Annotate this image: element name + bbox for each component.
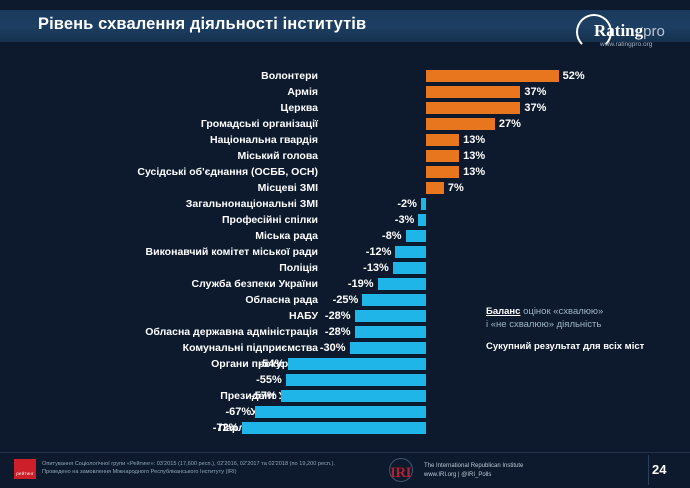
chart-row: Уряд України-67% <box>0 404 690 420</box>
chart-row: Поліція-13% <box>0 260 690 276</box>
bar-value-label: 13% <box>463 148 485 164</box>
chart-row: Професійні спілки-3% <box>0 212 690 228</box>
category-label: Служба безпеки України <box>0 276 318 292</box>
logo-url: www.ratingpro.org <box>600 41 652 48</box>
bar-value-label: 52% <box>563 68 585 84</box>
bar-positive <box>426 86 520 98</box>
summary-note: Сукупний результат для всіх міст <box>486 341 686 352</box>
bar-negative <box>355 310 426 322</box>
balance-note-bold: Баланс <box>486 306 520 317</box>
bar-positive <box>426 70 559 82</box>
logo-wordmark: Ratingpro <box>594 21 665 41</box>
chart-row: Президент України-57% <box>0 388 690 404</box>
bar-negative <box>362 294 426 306</box>
bar-value-label: -28% <box>291 324 351 340</box>
chart-row: Громадські організації27% <box>0 116 690 132</box>
footer-source-note: Опитування Соціологічної групи «Рейтинг»… <box>42 461 392 476</box>
header-top-strip <box>0 0 690 10</box>
bar-value-label: -72% <box>178 420 238 436</box>
bar-value-label: -12% <box>331 244 391 260</box>
chart-row: Національна гвардія13% <box>0 132 690 148</box>
chart-row: Загальнонаціональні ЗМІ-2% <box>0 196 690 212</box>
page-number: 24 <box>652 462 686 477</box>
bar-value-label: -54% <box>224 356 284 372</box>
bar-positive <box>426 134 459 146</box>
category-label: Загальнонаціональні ЗМІ <box>0 196 318 212</box>
page-title: Рівень схвалення діяльності інститутів <box>38 15 366 34</box>
bar-negative <box>395 246 426 258</box>
category-label: Громадські організації <box>0 116 318 132</box>
bar-positive <box>426 150 459 162</box>
chart-row: Місцеві ЗМІ7% <box>0 180 690 196</box>
bar-negative <box>378 278 426 290</box>
bar-value-label: 37% <box>524 100 546 116</box>
bar-chart: Волонтери52%Армія37%Церква37%Громадські … <box>0 62 690 444</box>
bar-positive <box>426 102 520 114</box>
bar-value-label: -30% <box>286 340 346 356</box>
bar-negative <box>350 342 427 354</box>
footer-note-line2: Проведено на замовлення Міжнародного Рес… <box>42 469 392 477</box>
chart-row: Органи прокуратури-54% <box>0 356 690 372</box>
bar-positive <box>426 182 444 194</box>
bar-value-label: -25% <box>298 292 358 308</box>
bar-value-label: -2% <box>357 196 417 212</box>
category-label: Виконавчий комітет міської ради <box>0 244 318 260</box>
chart-row: Сусідські об'єднання (ОСББ, ОСН)13% <box>0 164 690 180</box>
rating-logo-mark: рейтинг <box>14 459 36 479</box>
bar-value-label: -28% <box>291 308 351 324</box>
category-label: Міська рада <box>0 228 318 244</box>
chart-row: Суди-55% <box>0 372 690 388</box>
bar-value-label: -8% <box>342 228 402 244</box>
balance-note: Баланс оцінок «схвалюю» і «не схвалюю» д… <box>486 305 686 331</box>
bar-negative <box>355 326 426 338</box>
slide-root: Рівень схвалення діяльності інститутів R… <box>0 0 690 488</box>
logo-suffix: pro <box>643 23 665 40</box>
bar-value-label: -57% <box>217 388 277 404</box>
page-number-divider <box>648 455 649 485</box>
category-label: Церква <box>0 100 318 116</box>
category-label: Армія <box>0 84 318 100</box>
chart-row: Церква37% <box>0 100 690 116</box>
bar-negative <box>421 198 426 210</box>
balance-note-rest: оцінок «схвалюю» <box>520 306 603 317</box>
category-label: НАБУ <box>0 308 318 324</box>
chart-row: Міський голова13% <box>0 148 690 164</box>
bar-value-label: -67% <box>191 404 251 420</box>
bar-value-label: 13% <box>463 132 485 148</box>
iri-credit: The International Republican Institute w… <box>424 462 523 479</box>
bar-positive <box>426 118 495 130</box>
category-label: Національна гвардія <box>0 132 318 148</box>
bar-value-label: -55% <box>222 372 282 388</box>
bar-negative <box>286 374 426 386</box>
bar-value-label: 37% <box>524 84 546 100</box>
bar-negative <box>242 422 426 434</box>
bar-value-label: 27% <box>499 116 521 132</box>
footer-note-line1: Опитування Соціологічної групи «Рейтинг»… <box>42 461 392 469</box>
bar-negative <box>281 390 426 402</box>
category-label: Обласна державна адміністрація <box>0 324 318 340</box>
category-label: Обласна рада <box>0 292 318 308</box>
iri-logo-icon: IRI <box>388 458 422 482</box>
chart-row: Армія37% <box>0 84 690 100</box>
chart-row: Виконавчий комітет міської ради-12% <box>0 244 690 260</box>
iri-credit-line2: www.IRI.org | @IRI_Polls <box>424 471 523 480</box>
category-label: Професійні спілки <box>0 212 318 228</box>
iri-credit-line1: The International Republican Institute <box>424 462 523 471</box>
rating-logo-text: рейтинг <box>14 471 36 476</box>
bar-value-label: 13% <box>463 164 485 180</box>
bar-negative <box>406 230 426 242</box>
bar-value-label: -13% <box>329 260 389 276</box>
footer-divider <box>0 452 690 453</box>
chart-row: Парламент України-72% <box>0 420 690 436</box>
chart-row: Міська рада-8% <box>0 228 690 244</box>
category-label: Сусідські об'єднання (ОСББ, ОСН) <box>0 164 318 180</box>
iri-monogram: IRI <box>390 465 411 482</box>
bar-value-label: -3% <box>354 212 414 228</box>
category-label: Комунальні підприємства <box>0 340 318 356</box>
category-label: Волонтери <box>0 68 318 84</box>
bar-negative <box>288 358 426 370</box>
chart-row: Служба безпеки України-19% <box>0 276 690 292</box>
balance-note-line2: і «не схвалюю» діяльність <box>486 319 601 330</box>
bar-value-label: 7% <box>448 180 464 196</box>
bar-value-label: -19% <box>314 276 374 292</box>
bar-negative <box>255 406 426 418</box>
bar-negative <box>393 262 426 274</box>
chart-row: Волонтери52% <box>0 68 690 84</box>
ratingpro-logo: Ratingpro www.ratingpro.org <box>572 10 684 54</box>
category-label: Міський голова <box>0 148 318 164</box>
category-label: Місцеві ЗМІ <box>0 180 318 196</box>
bar-negative <box>418 214 426 226</box>
bar-positive <box>426 166 459 178</box>
category-label: Поліція <box>0 260 318 276</box>
logo-name: Rating <box>594 21 643 40</box>
